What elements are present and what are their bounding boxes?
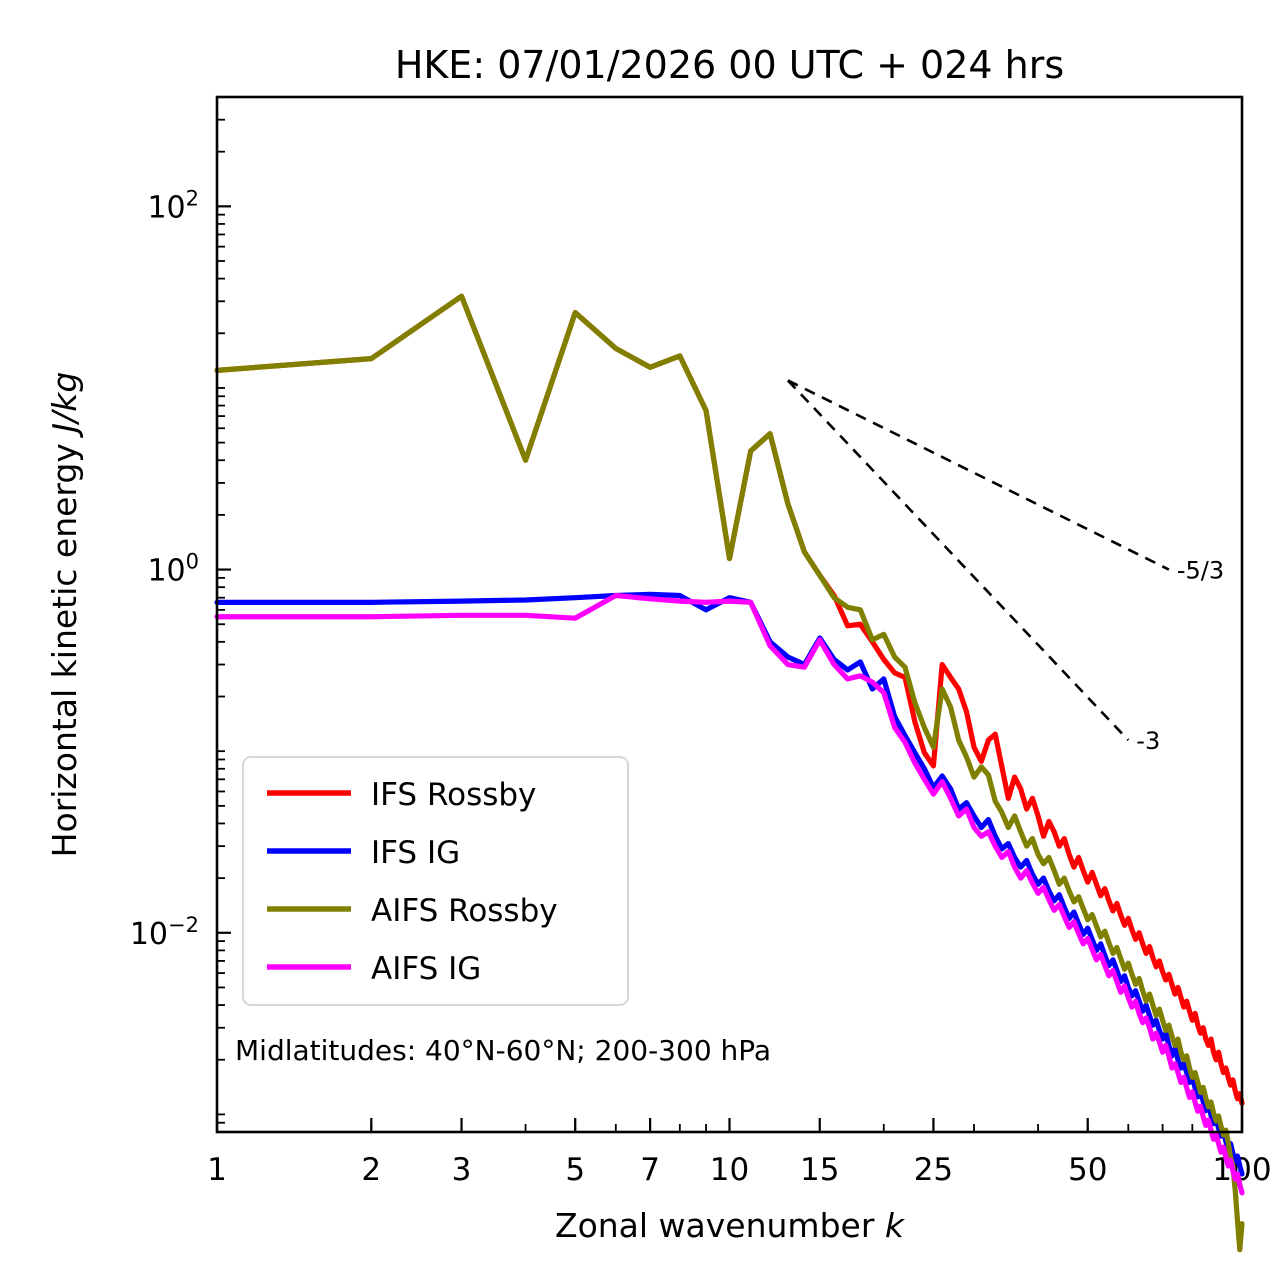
reference-line-53 [788, 380, 1169, 569]
x-tick-label: 5 [565, 1152, 585, 1188]
reference-line-label: -5/3 [1177, 557, 1224, 585]
x-tick-label: 15 [800, 1152, 839, 1188]
legend-label-2: AIFS Rossby [371, 893, 558, 929]
legend-label-0: IFS Rossby [371, 777, 536, 813]
y-tick-label: 102 [147, 186, 199, 225]
y-tick-label: 10−2 [130, 913, 199, 952]
x-tick-label: 25 [914, 1152, 953, 1188]
x-tick-label: 7 [640, 1152, 660, 1188]
chart-figure: HKE: 07/01/2026 00 UTC + 024 hrs12357101… [0, 0, 1280, 1288]
reference-line-label: -3 [1136, 727, 1160, 755]
x-tick-label: 10 [710, 1152, 749, 1188]
x-tick-label: 1 [207, 1152, 227, 1188]
y-tick-label: 100 [147, 550, 199, 589]
x-tick-label: 50 [1068, 1152, 1107, 1188]
y-axis-label: Horizontal kinetic energy J/kg [45, 372, 84, 858]
x-tick-label: 2 [361, 1152, 381, 1188]
x-axis-label: Zonal wavenumber k [555, 1206, 906, 1245]
hke-spectrum-chart: HKE: 07/01/2026 00 UTC + 024 hrs12357101… [0, 0, 1280, 1288]
x-tick-label: 3 [452, 1152, 472, 1188]
legend-label-1: IFS IG [371, 835, 460, 871]
chart-title: HKE: 07/01/2026 00 UTC + 024 hrs [395, 43, 1064, 87]
region-annotation: Midlatitudes: 40°N-60°N; 200-300 hPa [235, 1034, 771, 1067]
legend-label-3: AIFS IG [371, 951, 481, 987]
